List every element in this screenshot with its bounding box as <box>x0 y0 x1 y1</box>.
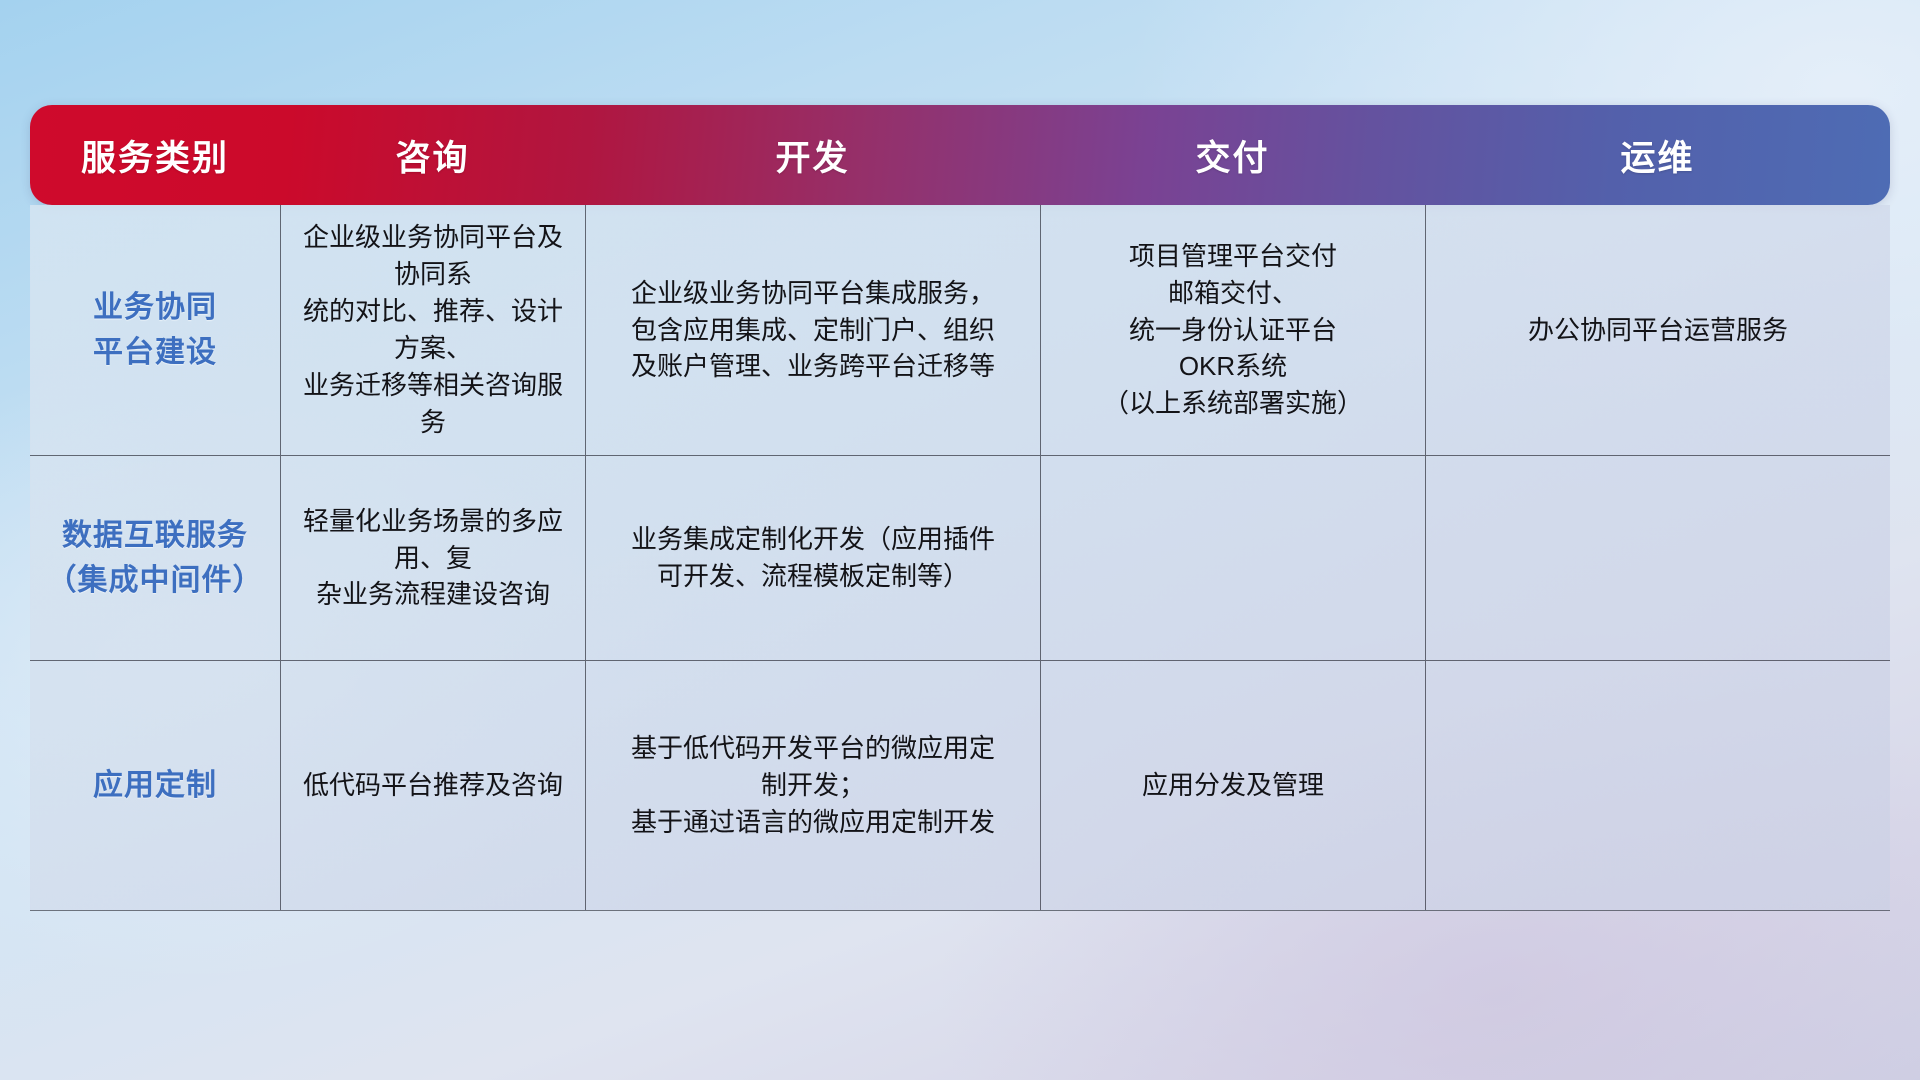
row-label-business-collaboration: 业务协同 平台建设 <box>30 205 280 455</box>
cell-consulting: 轻量化业务场景的多应用、复 杂业务流程建设咨询 <box>280 456 585 660</box>
cell-operations <box>1425 661 1890 910</box>
cell-development: 业务集成定制化开发（应用插件 可开发、流程模板定制等） <box>585 456 1040 660</box>
cell-delivery: 项目管理平台交付 邮箱交付、 统一身份认证平台 OKR系统 （以上系统部署实施） <box>1040 205 1425 455</box>
row-label-app-customization: 应用定制 <box>30 661 280 910</box>
table-row: 数据互联服务 （集成中间件） 轻量化业务场景的多应用、复 杂业务流程建设咨询 业… <box>30 455 1890 660</box>
cell-development: 企业级业务协同平台集成服务， 包含应用集成、定制门户、组织 及账户管理、业务跨平… <box>585 205 1040 455</box>
row-label-data-interconnect: 数据互联服务 （集成中间件） <box>30 456 280 660</box>
table-row: 业务协同 平台建设 企业级业务协同平台及协同系 统的对比、推荐、设计方案、 业务… <box>30 205 1890 455</box>
table-body: 业务协同 平台建设 企业级业务协同平台及协同系 统的对比、推荐、设计方案、 业务… <box>30 205 1890 911</box>
cell-delivery <box>1040 456 1425 660</box>
cell-consulting: 企业级业务协同平台及协同系 统的对比、推荐、设计方案、 业务迁移等相关咨询服务 <box>280 205 585 455</box>
column-header-development: 开发 <box>585 130 1040 181</box>
cell-development: 基于低代码开发平台的微应用定 制开发； 基于通过语言的微应用定制开发 <box>585 661 1040 910</box>
column-header-consulting: 咨询 <box>280 130 585 181</box>
cell-consulting: 低代码平台推荐及咨询 <box>280 661 585 910</box>
table-header-row: 服务类别 咨询 开发 交付 运维 <box>30 105 1890 205</box>
column-header-delivery: 交付 <box>1040 130 1425 181</box>
cell-operations: 办公协同平台运营服务 <box>1425 205 1890 455</box>
column-header-service-category: 服务类别 <box>30 130 280 181</box>
service-matrix-table: 服务类别 咨询 开发 交付 运维 业务协同 平台建设 企业级业务协同平台及协同系… <box>30 105 1890 965</box>
table-row: 应用定制 低代码平台推荐及咨询 基于低代码开发平台的微应用定 制开发； 基于通过… <box>30 660 1890 910</box>
column-header-operations: 运维 <box>1425 130 1890 181</box>
cell-delivery: 应用分发及管理 <box>1040 661 1425 910</box>
cell-operations <box>1425 456 1890 660</box>
